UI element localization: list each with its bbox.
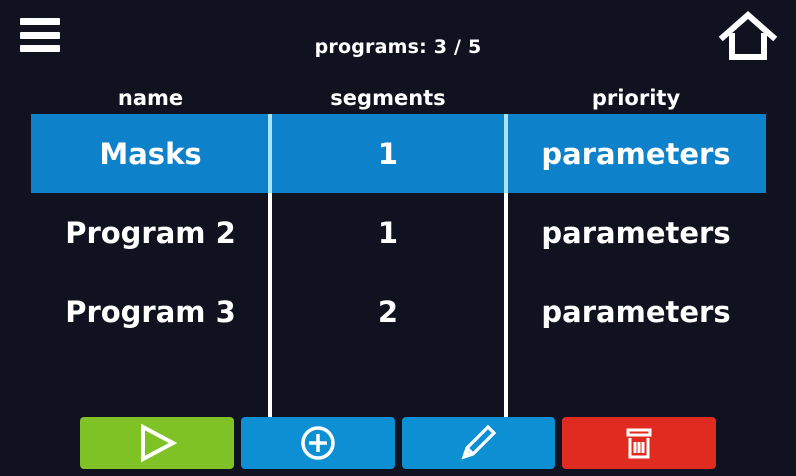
home-icon[interactable] (718, 10, 778, 62)
top-bar: programs: 3 / 5 (0, 0, 796, 72)
cell-segments: 1 (270, 216, 506, 250)
action-button-bar (80, 417, 716, 469)
column-header-name: name (31, 86, 270, 110)
table-row[interactable]: Masks 1 parameters (31, 114, 766, 193)
delete-button[interactable] (562, 417, 716, 469)
table-header-row: name segments priority (31, 78, 766, 110)
cell-name: Program 2 (31, 216, 270, 250)
program-list-screen: programs: 3 / 5 name segments priority M… (0, 0, 796, 476)
play-icon (134, 423, 180, 463)
plus-circle-icon (298, 423, 338, 463)
program-count-label: programs: 3 / 5 (0, 36, 796, 58)
start-button[interactable] (80, 417, 234, 469)
cell-name: Program 3 (31, 295, 270, 329)
pencil-icon (457, 422, 499, 464)
column-header-priority: priority (506, 86, 766, 110)
cell-segments: 1 (270, 137, 506, 171)
column-header-segments: segments (270, 86, 506, 110)
add-button[interactable] (241, 417, 395, 469)
trash-icon (619, 423, 659, 463)
cell-priority[interactable]: parameters (506, 137, 766, 171)
edit-button[interactable] (402, 417, 556, 469)
table-body: Masks 1 parameters Program 2 1 parameter… (31, 114, 766, 351)
cell-name: Masks (31, 137, 270, 171)
cell-priority[interactable]: parameters (506, 216, 766, 250)
cell-priority[interactable]: parameters (506, 295, 766, 329)
cell-segments: 2 (270, 295, 506, 329)
table-row[interactable]: Program 2 1 parameters (31, 193, 766, 272)
table-row[interactable]: Program 3 2 parameters (31, 272, 766, 351)
program-table: name segments priority Masks 1 parameter… (31, 78, 766, 398)
hamburger-bar-1 (20, 18, 60, 25)
